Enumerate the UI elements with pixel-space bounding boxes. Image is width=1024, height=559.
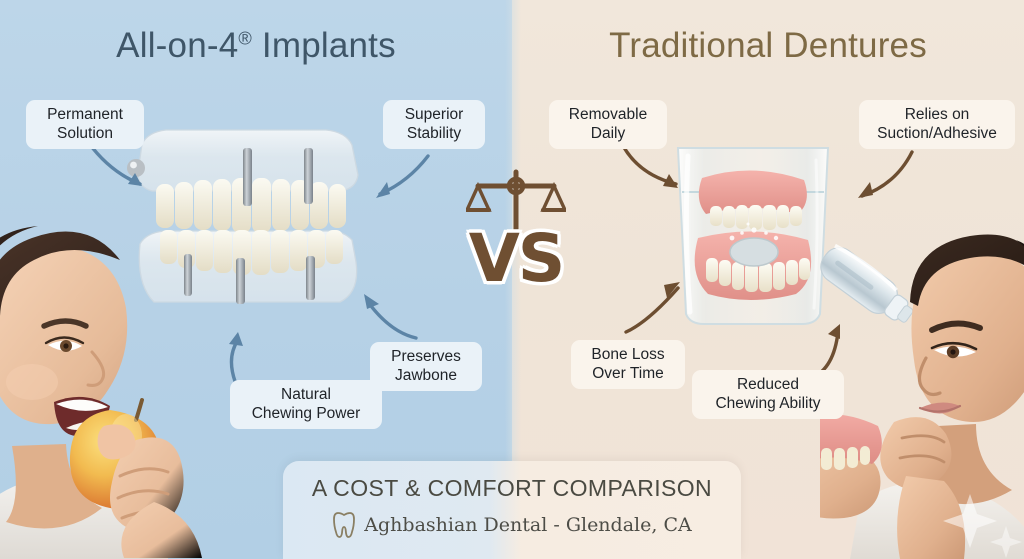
callout-superior-stability: Superior Stability (383, 100, 485, 149)
left-title-number: 4 (219, 26, 239, 65)
right-panel-title: Traditional Dentures (512, 26, 1024, 66)
left-title-suffix: Implants (252, 26, 396, 65)
left-panel-title: All-on-4® Implants (0, 26, 512, 66)
left-title-text: All-on- (116, 26, 219, 65)
registered-mark-icon: ® (238, 28, 252, 48)
infographic-canvas: All-on-4® Implants Traditional Dentures … (0, 0, 1024, 559)
callout-permanent-solution: Permanent Solution (26, 100, 144, 149)
callout-removable-daily: Removable Daily (549, 100, 667, 149)
banner-title: A COST & COMFORT COMPARISON (283, 475, 741, 502)
versus-label: VS (455, 220, 577, 297)
callout-reduced-chewing-ability: Reduced Chewing Ability (692, 370, 844, 419)
banner-subtitle: Aghbashian Dental - Glendale, CA (364, 514, 691, 536)
banner-subtitle-row: Aghbashian Dental - Glendale, CA (283, 511, 741, 539)
callout-natural-chewing-power: Natural Chewing Power (230, 380, 382, 429)
callout-preserves-jawbone: Preserves Jawbone (370, 342, 482, 391)
callout-bone-loss-over-time: Bone Loss Over Time (571, 340, 685, 389)
callout-relies-on-suction-adhesive: Relies on Suction/Adhesive (859, 100, 1015, 149)
bottom-banner: A COST & COMFORT COMPARISON Aghbashian D… (283, 461, 741, 559)
left-photo-woman-with-apple (0, 214, 254, 559)
cleaning-tablet (730, 238, 778, 266)
right-photo-woman-holding-dentures (820, 226, 1024, 559)
tooth-icon (332, 511, 356, 539)
versus-badge: VS (455, 168, 577, 296)
